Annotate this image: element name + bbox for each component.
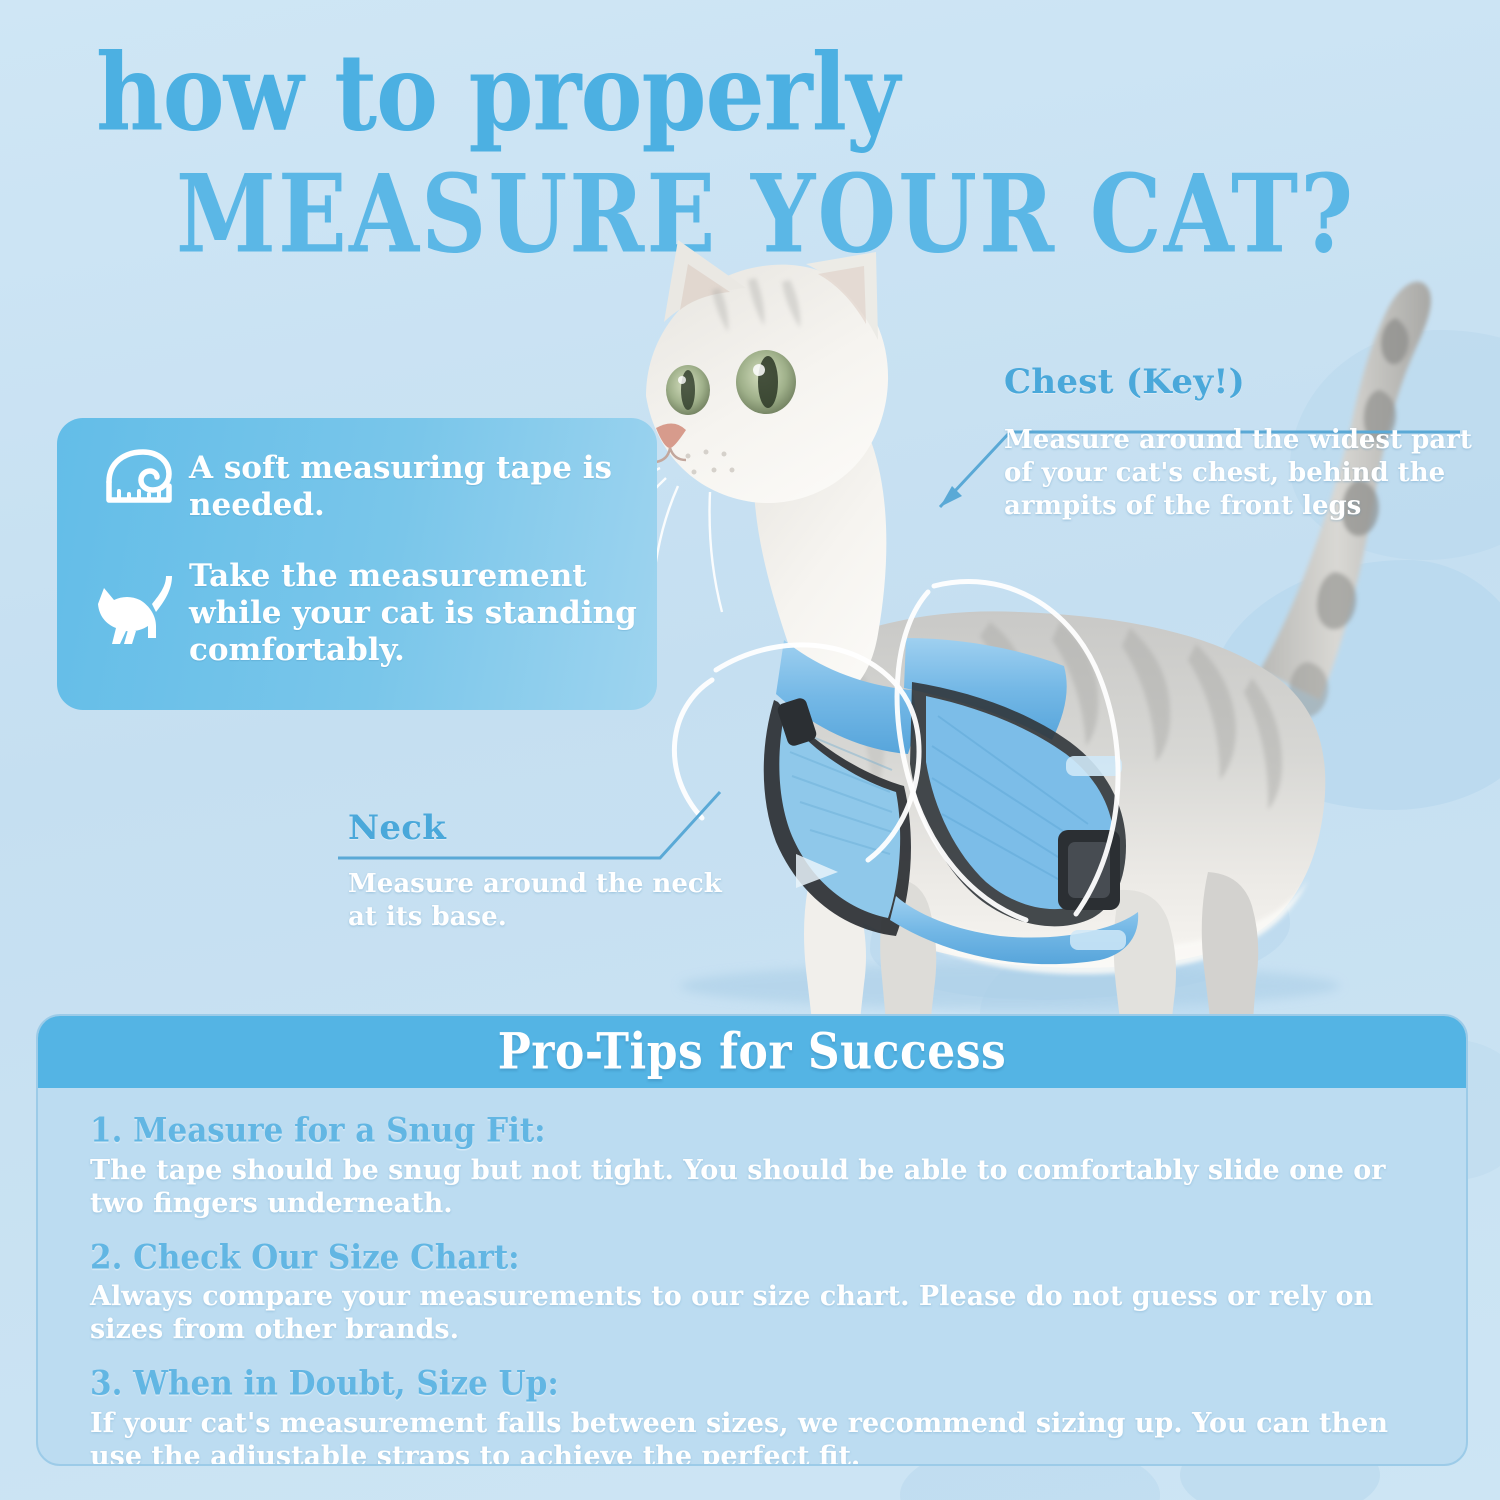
tip-text: The tape should be snug but not tight. Y… [90,1155,1418,1221]
requirement-text: Take the measurement while your cat is s… [189,556,651,670]
requirements-panel: A soft measuring tape is needed. Take th… [57,418,657,710]
pro-tips-header: Pro-Tips for Success [38,1016,1466,1088]
pro-tips-title: Pro-Tips for Success [498,1023,1007,1080]
tip-text: If your cat's measurement falls between … [90,1408,1418,1466]
pro-tips-panel: Pro-Tips for Success 1. Measure for a Sn… [36,1014,1468,1466]
tip-heading: 3. When in Doubt, Size Up: [90,1366,1418,1404]
tip-heading: 2. Check Our Size Chart: [90,1239,1418,1277]
tip-heading: 1. Measure for a Snug Fit: [90,1113,1418,1151]
measuring-tape-icon [85,448,189,512]
requirement-item: Take the measurement while your cat is s… [85,556,651,670]
infographic-page: how to properly MEASURE YOUR CAT? [0,0,1500,1500]
requirement-item: A soft measuring tape is needed. [85,448,641,524]
page-title: how to properly MEASURE YOUR CAT? [0,44,1500,245]
neck-callout: Neck Measure around the neck at its base… [348,808,728,934]
title-line-1: how to properly [96,44,1500,142]
chest-callout: Chest (Key!) Measure around the widest p… [1004,362,1474,522]
cat-silhouette-icon [85,556,189,648]
tip-text: Always compare your measurements to our … [90,1281,1418,1347]
chest-callout-body: Measure around the widest part of your c… [1004,424,1474,522]
neck-callout-body: Measure around the neck at its base. [348,868,728,934]
neck-callout-title: Neck [348,808,728,848]
tip-item: 1. Measure for a Snug Fit: The tape shou… [90,1114,1418,1221]
tip-item: 3. When in Doubt, Size Up: If your cat's… [90,1367,1418,1466]
tip-item: 2. Check Our Size Chart: Always compare … [90,1241,1418,1348]
chest-callout-title: Chest (Key!) [1004,362,1474,402]
requirement-text: A soft measuring tape is needed. [189,448,641,524]
pro-tips-body: 1. Measure for a Snug Fit: The tape shou… [38,1088,1466,1466]
